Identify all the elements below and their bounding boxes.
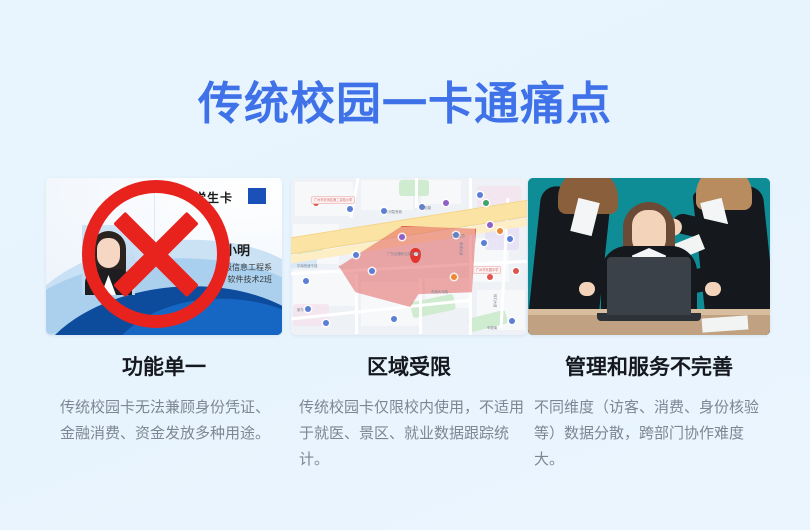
map-label: 广东交通职业技术学院 — [387, 252, 421, 257]
student-id-card-illustration: 学生卡 小明 23级信息工程系 软件技术2班 — [46, 178, 282, 335]
office-illustration-thumbnail — [528, 178, 770, 335]
map-poi — [399, 234, 405, 240]
map-poi — [477, 192, 483, 198]
map-poi — [487, 222, 493, 228]
card-heading-2: 区域受限 — [291, 355, 527, 381]
map-poi — [443, 200, 449, 206]
map-poi — [303, 278, 309, 284]
laptop-screen — [607, 257, 691, 315]
pain-point-card-1: 学生卡 小明 23级信息工程系 软件技术2班 功能单一 传统校园卡无法兼顾身份凭… — [46, 178, 282, 447]
student-id-card-thumbnail: 学生卡 小明 23级信息工程系 软件技术2班 — [46, 178, 282, 335]
pain-point-card-3: 管理和服务不完善 不同维度（访客、消费、身份核验等）数据分散，跨部门协作难度大。 — [528, 178, 770, 473]
map-label: 棠东 — [297, 308, 304, 313]
map-tag: 广州市天河区第二实验小学 — [311, 196, 355, 204]
map-poi — [507, 236, 513, 242]
card-heading-1: 功能单一 — [46, 355, 282, 381]
pain-point-card-2: 广州市天河区第二实验小学 广州市东圃中学 天河智慧城 科韵路 广东交通职业技术学… — [291, 178, 527, 473]
map-label: 黄埔大道 — [458, 242, 463, 256]
map-poi — [347, 206, 353, 212]
center-person-right-hand — [705, 282, 721, 296]
card-body-3: 不同维度（访客、消费、身份核验等）数据分散，跨部门协作难度大。 — [528, 395, 770, 473]
card-body-2: 传统校园卡仅限校内使用，不适用于就医、景区、就业数据跟踪统计。 — [291, 395, 527, 473]
slide-canvas: 传统校园一卡通痛点 学生卡 — [0, 0, 810, 530]
map-poi — [513, 268, 519, 274]
page-title: 传统校园一卡通痛点 — [0, 78, 810, 130]
map-poi — [323, 320, 329, 326]
map-poi — [481, 240, 487, 246]
center-person-left-hand — [579, 282, 595, 296]
overwhelmed-worker-illustration — [528, 178, 770, 335]
map-label: 珠村大道 — [492, 294, 497, 308]
prohibition-icon — [82, 180, 230, 328]
map-poi — [305, 306, 311, 312]
map-label: 东圃大马路 — [431, 290, 448, 295]
map-road — [415, 178, 418, 208]
map-poi — [353, 252, 359, 258]
map-poi — [369, 268, 375, 274]
campus-map-thumbnail: 广州市天河区第二实验小学 广州市东圃中学 天河智慧城 科韵路 广东交通职业技术学… — [291, 178, 527, 335]
map-poi — [487, 274, 493, 280]
map-poi — [391, 316, 397, 322]
id-card-logo-square — [248, 188, 266, 204]
map-poi — [509, 318, 515, 324]
map-label: 天河智慧城 — [385, 210, 402, 215]
map-poi — [483, 200, 489, 206]
map-label: 科韵路 — [421, 206, 431, 211]
card-body-1: 传统校园卡无法兼顾身份凭证、金融消费、资金发放多种用途。 — [46, 395, 282, 447]
map-poi — [497, 228, 503, 234]
map-greenspace — [399, 180, 429, 196]
map-poi — [451, 274, 457, 280]
map-label: 员村山顶 — [451, 234, 465, 239]
map-label: 车陂南 — [487, 326, 497, 331]
campus-map-illustration: 广州市天河区第二实验小学 广州市东圃中学 天河智慧城 科韵路 广东交通职业技术学… — [291, 178, 527, 335]
map-tag: 广州市东圃中学 — [473, 266, 501, 274]
card-heading-3: 管理和服务不完善 — [528, 355, 770, 381]
map-label: 华南快速干线 — [297, 264, 317, 269]
pain-point-columns: 学生卡 小明 23级信息工程系 软件技术2班 功能单一 传统校园卡无法兼顾身份凭… — [0, 178, 810, 498]
